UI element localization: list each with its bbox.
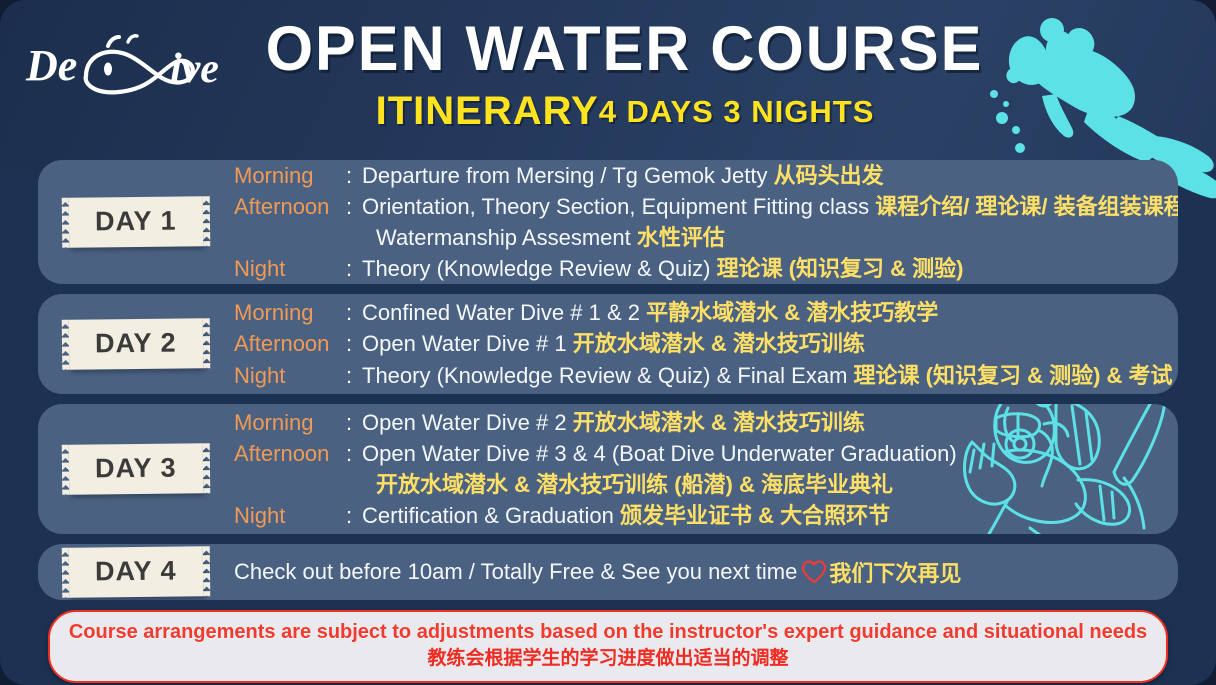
day-badge-cell: DAY 4 (38, 547, 234, 597)
row-colon: : (346, 191, 362, 222)
day-badge: DAY 3 (69, 443, 203, 494)
svg-text:De: De (25, 41, 77, 90)
day-card[interactable]: DAY 1 Morning : Departure from Mersing /… (38, 160, 1178, 284)
row-text: Confined Water Dive # 1 & 2 平静水域潜水 & 潜水技… (362, 297, 938, 328)
day-badge: DAY 4 (69, 546, 203, 597)
row-text-en: Certification & Graduation (362, 503, 620, 528)
time-label: Afternoon (234, 328, 346, 359)
itinerary-poster: De ive OPEN WATER COURSE ITINERARY4 DAYS… (0, 0, 1216, 685)
row-text-cn: 颁发毕业证书 & 大合照环节 (620, 503, 890, 528)
day-badge: DAY 2 (69, 318, 203, 369)
schedule-row: Afternoon : Open Water Dive # 3 & 4 (Boa… (234, 438, 1160, 469)
row-text: Open Water Dive # 1 开放水域潜水 & 潜水技巧训练 (362, 328, 865, 359)
day-rows: Morning : Open Water Dive # 2 开放水域潜水 & 潜… (234, 407, 1178, 532)
day-badge-cell: DAY 3 (38, 444, 234, 494)
day-card[interactable]: DAY 3 Morning : Open Water Dive # 2 开放水域… (38, 404, 1178, 534)
schedule-row: Night : Certification & Graduation 颁发毕业证… (234, 500, 1160, 531)
time-label: Night (234, 253, 346, 284)
day-cards: DAY 1 Morning : Departure from Mersing /… (0, 160, 1216, 600)
row-text-en: Open Water Dive # 1 (362, 331, 573, 356)
row-colon: : (346, 253, 362, 284)
schedule-row-continuation: Watermanship Assesment 水性评估 (234, 222, 1178, 253)
page-title: OPEN WATER COURSE (233, 18, 984, 81)
row-colon: : (346, 160, 362, 191)
duration-label: 4 DAYS 3 NIGHTS (599, 94, 875, 129)
time-label: Night (234, 360, 346, 391)
disclaimer-line-en: Course arrangements are subject to adjus… (68, 619, 1148, 646)
row-colon: : (346, 360, 362, 391)
row-text-cn: 理论课 (知识复习 & 测验) & 考试 (854, 363, 1173, 388)
row-colon: : (346, 297, 362, 328)
time-label: Afternoon (234, 438, 346, 469)
day-badge: DAY 1 (69, 196, 203, 247)
row-text-cn: 水性评估 (637, 225, 725, 250)
row-text: Departure from Mersing / Tg Gemok Jetty … (362, 160, 884, 191)
day-badge-cell: DAY 2 (38, 319, 234, 369)
row-text-en: Theory (Knowledge Review & Quiz) (362, 256, 717, 281)
row-text-cn: 从码头出发 (774, 163, 884, 188)
disclaimer-note: Course arrangements are subject to adjus… (48, 610, 1168, 683)
row-colon: : (346, 328, 362, 359)
disclaimer-line-cn: 教练会根据学生的学习进度做出适当的调整 (68, 646, 1148, 672)
row-colon: : (346, 407, 362, 438)
row-text: 开放水域潜水 & 潜水技巧训练 (船潜) & 海底毕业典礼 (362, 469, 893, 500)
row-text: Theory (Knowledge Review & Quiz) 理论课 (知识… (362, 253, 963, 284)
itinerary-label: ITINERARY (376, 89, 599, 133)
time-label: Afternoon (234, 191, 346, 222)
day4-text-en: Check out before 10am / Totally Free & S… (234, 559, 797, 585)
schedule-row: Afternoon : Open Water Dive # 1 开放水域潜水 &… (234, 328, 1173, 359)
time-label: Morning (234, 407, 346, 438)
row-text-cn: 课程介绍/ 理论课/ 装备组装课程 (875, 194, 1178, 219)
schedule-row: Morning : Departure from Mersing / Tg Ge… (234, 160, 1178, 191)
row-text-en: Open Water Dive # 2 (362, 410, 573, 435)
row-text-en: Departure from Mersing / Tg Gemok Jetty (362, 163, 774, 188)
row-text-cn: 平静水域潜水 & 潜水技巧教学 (646, 300, 938, 325)
row-text: Certification & Graduation 颁发毕业证书 & 大合照环… (362, 500, 890, 531)
row-text: Watermanship Assesment 水性评估 (362, 222, 725, 253)
day-rows: Morning : Departure from Mersing / Tg Ge… (234, 160, 1178, 284)
schedule-row: Morning : Open Water Dive # 2 开放水域潜水 & 潜… (234, 407, 1160, 438)
heart-icon (801, 559, 827, 585)
row-text-en: Confined Water Dive # 1 & 2 (362, 300, 646, 325)
day-badge-cell: DAY 1 (38, 197, 234, 247)
schedule-row: Afternoon : Orientation, Theory Section,… (234, 191, 1178, 222)
schedule-row: Morning : Confined Water Dive # 1 & 2 平静… (234, 297, 1173, 328)
time-label: Night (234, 500, 346, 531)
poster-header: De ive OPEN WATER COURSE ITINERARY4 DAYS… (0, 0, 1216, 160)
time-label: Morning (234, 297, 346, 328)
row-text-en: Watermanship Assesment (376, 225, 637, 250)
day-rows: Morning : Confined Water Dive # 1 & 2 平静… (234, 297, 1178, 391)
row-text-cn: 开放水域潜水 & 潜水技巧训练 (船潜) & 海底毕业典礼 (376, 472, 893, 497)
schedule-row: Night : Theory (Knowledge Review & Quiz)… (234, 253, 1178, 284)
row-text-en: Orientation, Theory Section, Equipment F… (362, 194, 875, 219)
row-text: Open Water Dive # 3 & 4 (Boat Dive Under… (362, 438, 957, 469)
brand-logo: De ive (24, 24, 254, 104)
row-text-cn: 理论课 (知识复习 & 测验) (717, 256, 964, 281)
day-card[interactable]: DAY 4 Check out before 10am / Totally Fr… (38, 544, 1178, 600)
row-text-en: Theory (Knowledge Review & Quiz) & Final… (362, 363, 854, 388)
row-text-cn: 开放水域潜水 & 潜水技巧训练 (573, 410, 865, 435)
schedule-row-continuation: 开放水域潜水 & 潜水技巧训练 (船潜) & 海底毕业典礼 (234, 469, 1160, 500)
row-text: Theory (Knowledge Review & Quiz) & Final… (362, 360, 1173, 391)
row-text: Orientation, Theory Section, Equipment F… (362, 191, 1178, 222)
day4-text: Check out before 10am / Totally Free & S… (234, 556, 961, 588)
day4-text-cn: 我们下次再见 (829, 556, 961, 588)
svg-text:ive: ive (170, 46, 219, 92)
row-colon: : (346, 438, 362, 469)
day-card[interactable]: DAY 2 Morning : Confined Water Dive # 1 … (38, 294, 1178, 394)
time-label: Morning (234, 160, 346, 191)
row-colon: : (346, 500, 362, 531)
row-text-cn: 开放水域潜水 & 潜水技巧训练 (573, 331, 865, 356)
row-text-en: Open Water Dive # 3 & 4 (Boat Dive Under… (362, 441, 957, 466)
row-text: Open Water Dive # 2 开放水域潜水 & 潜水技巧训练 (362, 407, 865, 438)
schedule-row: Night : Theory (Knowledge Review & Quiz)… (234, 360, 1173, 391)
